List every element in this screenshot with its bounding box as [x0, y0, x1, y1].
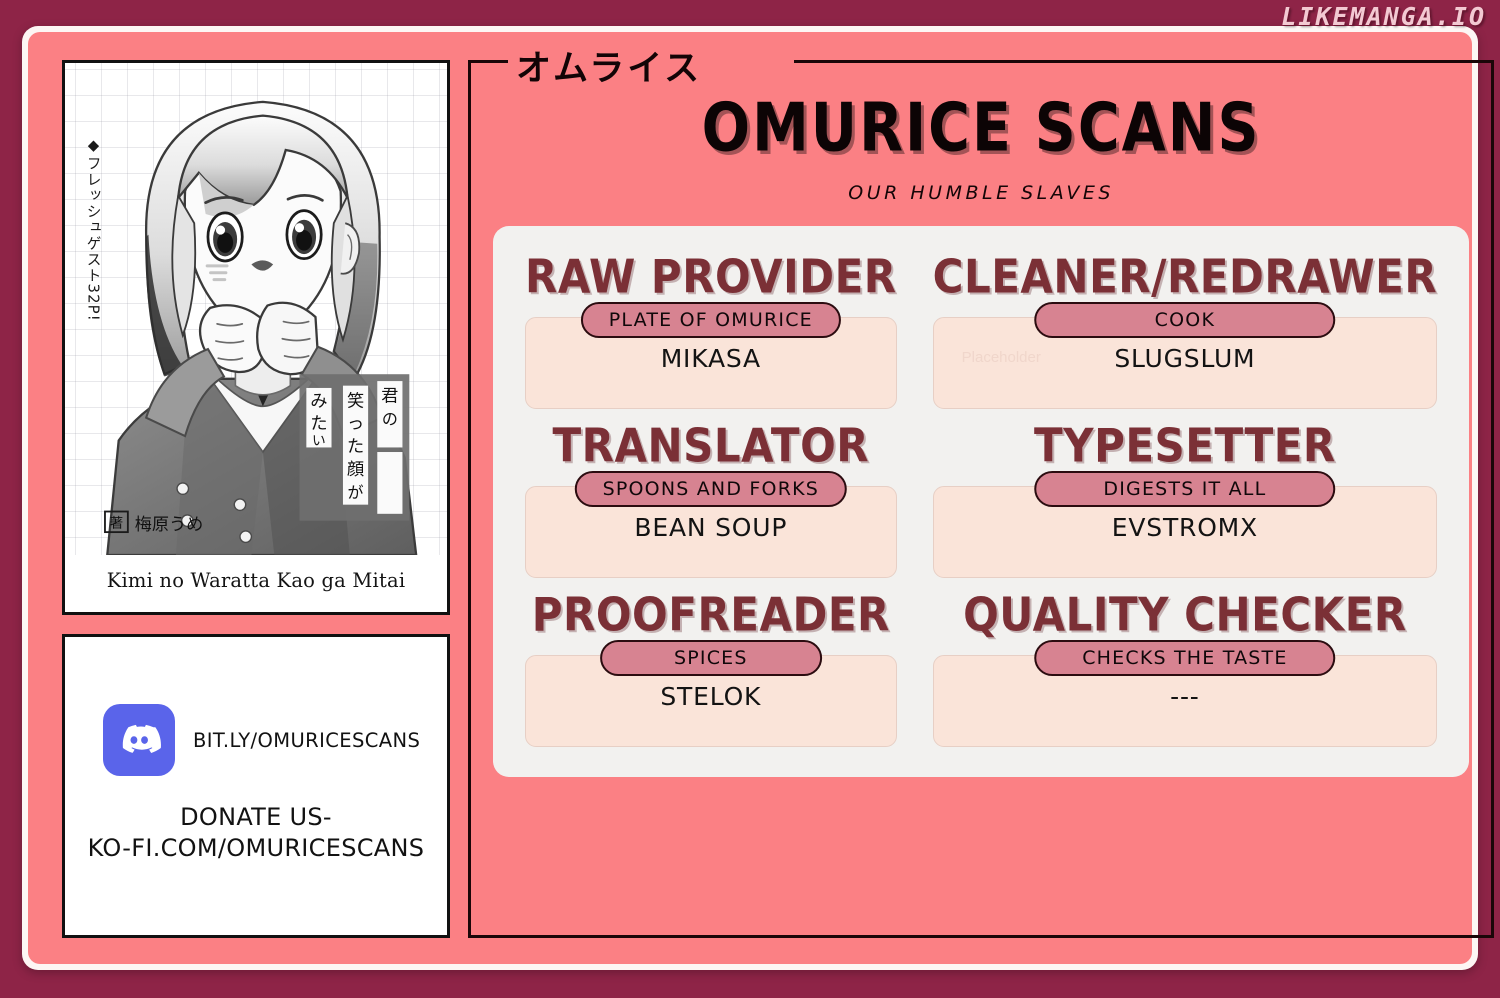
- role-badge: SPOONS AND FORKS: [575, 471, 847, 507]
- role-card: SPOONS AND FORKS BEAN SOUP: [525, 486, 897, 578]
- donate-url[interactable]: KO-FI.COM/OMURICESCANS: [88, 833, 425, 864]
- role-translator: TRANSLATOR SPOONS AND FORKS BEAN SOUP: [525, 417, 897, 578]
- svg-text:が: が: [348, 483, 364, 502]
- role-badge: DIGESTS IT ALL: [1034, 471, 1336, 507]
- manga-girl-illustration: ◆フレッシュゲスト32P! 君 の 笑: [65, 63, 447, 555]
- role-member-name: SLUGSLUM: [1114, 344, 1255, 373]
- role-title: TYPESETTER: [933, 419, 1438, 473]
- cover-title-plaque: 君 の 笑 っ た 顔 が み た い: [299, 374, 409, 520]
- credits-frame: オムライス OMURICE SCANS OUR HUMBLE SLAVES RA…: [468, 60, 1494, 938]
- role-card: SPICES STELOK: [525, 655, 897, 747]
- svg-text:っ: っ: [347, 414, 364, 434]
- donate-label: DONATE US-: [88, 802, 425, 833]
- discord-glyph: [116, 717, 162, 763]
- svg-text:み: み: [310, 391, 327, 411]
- role-card: CHECKS THE TASTE ---: [933, 655, 1438, 747]
- role-typesetter: TYPESETTER DIGESTS IT ALL EVSTROMX: [933, 417, 1438, 578]
- cover-vertical-text: ◆フレッシュゲスト32P!: [85, 136, 103, 322]
- role-quality-checker: QUALITY CHECKER CHECKS THE TASTE ---: [933, 586, 1438, 747]
- svg-text:の: の: [382, 410, 398, 429]
- discord-link-row[interactable]: BIT.LY/OMURICESCANS: [81, 704, 431, 776]
- role-member-name: BEAN SOUP: [634, 513, 787, 542]
- role-title: QUALITY CHECKER: [933, 588, 1438, 642]
- manga-cover-panel: ◆フレッシュゲスト32P! 君 の 笑: [62, 60, 450, 615]
- role-badge: SPICES: [600, 640, 822, 676]
- role-badge: COOK: [1034, 302, 1336, 338]
- left-column: ◆フレッシュゲスト32P! 君 の 笑: [62, 60, 450, 938]
- role-card: COOK Placeholder SLUGSLUM: [933, 317, 1438, 409]
- role-placeholder-watermark: Placeholder: [962, 349, 1041, 366]
- role-title: RAW PROVIDER: [525, 250, 897, 304]
- japanese-brand-label: オムライス: [516, 40, 702, 91]
- role-proofreader: PROOFREADER SPICES STELOK: [525, 586, 897, 747]
- discord-url-label[interactable]: BIT.LY/OMURICESCANS: [193, 729, 420, 752]
- role-member-name: STELOK: [660, 682, 761, 711]
- role-member-name: MIKASA: [661, 344, 761, 373]
- role-badge: PLATE OF OMURICE: [581, 302, 841, 338]
- svg-text:た: た: [347, 437, 364, 457]
- role-card: DIGESTS IT ALL EVSTROMX: [933, 486, 1438, 578]
- role-member-name: ---: [1170, 682, 1199, 711]
- svg-text:著: 著: [110, 516, 124, 532]
- svg-text:た: た: [310, 414, 327, 434]
- role-cleaner-redrawer: CLEANER/REDRAWER COOK Placeholder SLUGSL…: [933, 248, 1438, 409]
- manga-title-caption: Kimi no Waratta Kao ga Mitai: [65, 555, 447, 612]
- svg-text:顔: 顔: [347, 460, 364, 480]
- role-title: TRANSLATOR: [525, 419, 897, 473]
- role-card: PLATE OF OMURICE MIKASA: [525, 317, 897, 409]
- role-raw-provider: RAW PROVIDER PLATE OF OMURICE MIKASA: [525, 248, 897, 409]
- svg-text:君: 君: [381, 387, 398, 407]
- discord-icon[interactable]: [103, 704, 175, 776]
- links-panel: BIT.LY/OMURICESCANS DONATE US- KO-FI.COM…: [62, 634, 450, 938]
- cover-author-credit: 著 梅原うめ: [105, 512, 203, 535]
- role-member-name: EVSTROMX: [1112, 513, 1258, 542]
- role-title: PROOFREADER: [525, 588, 897, 642]
- credits-page-body: ◆フレッシュゲスト32P! 君 の 笑: [28, 32, 1472, 964]
- role-badge: CHECKS THE TASTE: [1034, 640, 1336, 676]
- manga-cover-illustration: ◆フレッシュゲスト32P! 君 の 笑: [65, 63, 447, 555]
- svg-text:笑: 笑: [347, 391, 364, 411]
- brand-subtitle: OUR HUMBLE SLAVES: [471, 182, 1491, 204]
- credits-page-frame: ◆フレッシュゲスト32P! 君 の 笑: [22, 26, 1478, 970]
- roles-panel: RAW PROVIDER PLATE OF OMURICE MIKASA CLE…: [493, 226, 1469, 777]
- manga-cover-art: ◆フレッシュゲスト32P! 君 の 笑: [65, 63, 447, 555]
- role-title: CLEANER/REDRAWER: [933, 250, 1438, 304]
- brand-title: OMURICE SCANS: [471, 89, 1491, 167]
- svg-text:梅原うめ: 梅原うめ: [135, 515, 204, 535]
- donate-block[interactable]: DONATE US- KO-FI.COM/OMURICESCANS: [88, 802, 425, 863]
- svg-text:い: い: [312, 433, 326, 449]
